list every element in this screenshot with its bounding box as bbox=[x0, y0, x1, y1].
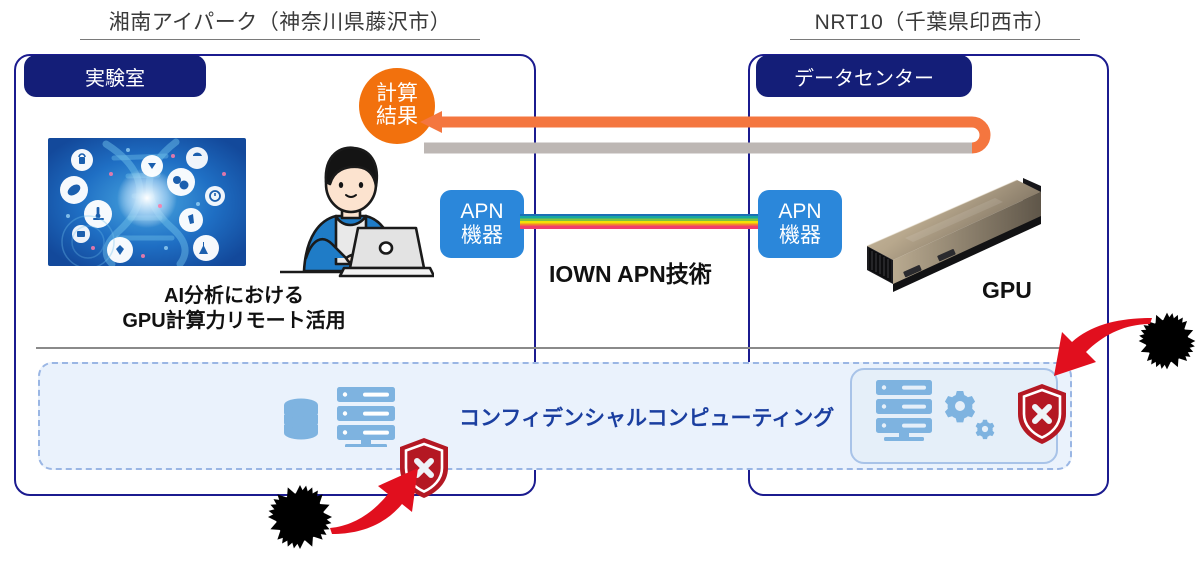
site-title-right: NRT10（千葉県印西市） bbox=[790, 6, 1080, 40]
confidential-computing-label: コンフィデンシャルコンピューティング bbox=[453, 400, 840, 434]
result-return-arrow bbox=[400, 108, 1020, 168]
gpu-card-illustration bbox=[845, 172, 1075, 294]
apn-left-line2: 機器 bbox=[461, 224, 503, 248]
attack-arrow-lab bbox=[326, 442, 436, 534]
iown-apn-tech-label: IOWN APN技術 bbox=[549, 255, 712, 289]
gears-icon bbox=[945, 391, 994, 439]
confidential-right-icons bbox=[872, 378, 1012, 450]
section-divider bbox=[36, 347, 1068, 349]
database-icon bbox=[284, 399, 318, 440]
virus-icon-lab bbox=[265, 482, 335, 552]
result-bubble-line1: 計算 bbox=[376, 83, 418, 106]
confidential-left-icons bbox=[275, 385, 405, 447]
ai-usage-caption: AI分析における GPU計算力リモート活用 bbox=[34, 284, 434, 334]
lab-panel-tag: 実験室 bbox=[24, 55, 206, 97]
ai-medical-dna-illustration bbox=[48, 138, 246, 266]
site-title-left: 湘南アイパーク（神奈川県藤沢市） bbox=[80, 6, 480, 40]
datacenter-panel-tag: データセンター bbox=[756, 55, 972, 97]
ai-usage-caption-line1: AI分析における bbox=[34, 284, 434, 309]
iown-fiber-link bbox=[520, 214, 762, 229]
apn-device-left: APN 機器 bbox=[440, 190, 524, 258]
apn-right-line2: 機器 bbox=[779, 224, 821, 248]
apn-device-right: APN 機器 bbox=[758, 190, 842, 258]
gpu-label: GPU bbox=[982, 277, 1032, 304]
ai-usage-caption-line2: GPU計算力リモート活用 bbox=[34, 309, 434, 334]
apn-left-line1: APN bbox=[460, 200, 503, 224]
attack-arrow-datacenter bbox=[1046, 318, 1154, 400]
diagram-canvas: 湘南アイパーク（神奈川県藤沢市） NRT10（千葉県印西市） 実験室 データセン… bbox=[0, 0, 1200, 562]
apn-right-line1: APN bbox=[778, 200, 821, 224]
